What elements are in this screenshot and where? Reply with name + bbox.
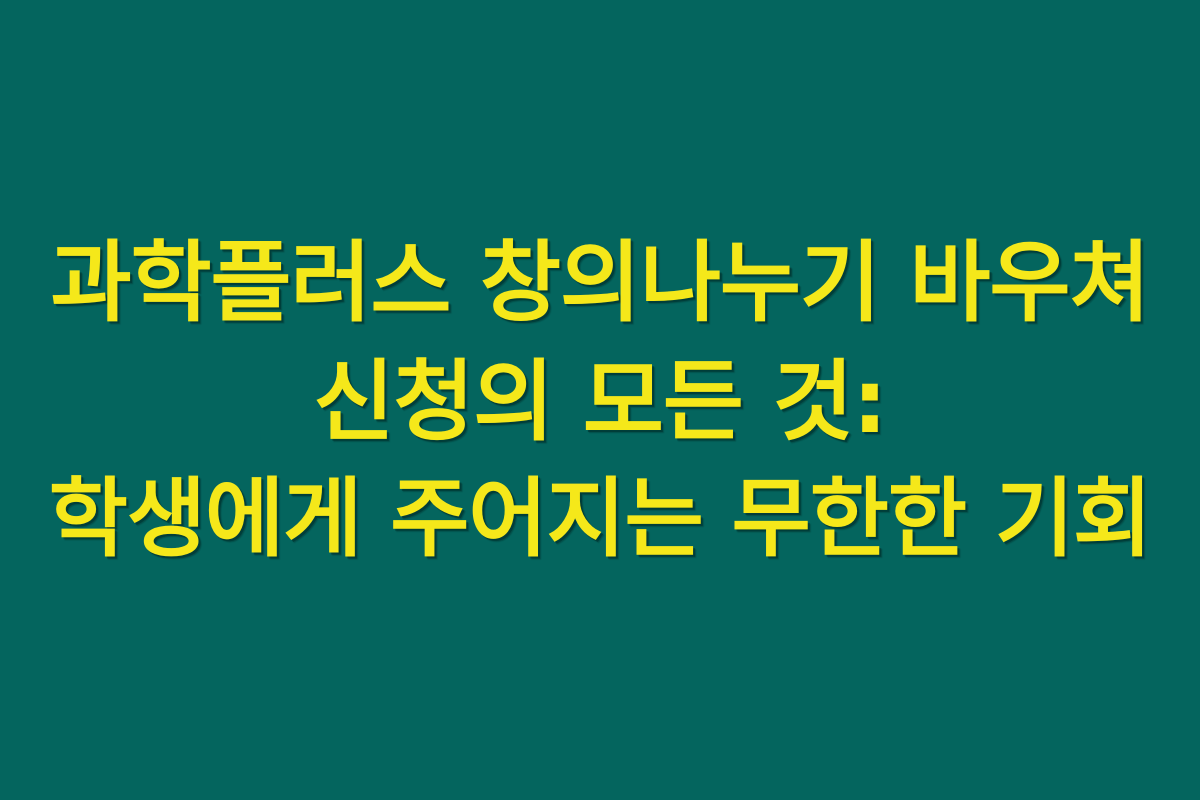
title-line-1: 과학플러스 창의나누기 바우쳐 (51, 223, 1150, 342)
title-line-3: 학생에게 주어지는 무한한 기회 (49, 461, 1151, 577)
title-line-2: 신청의 모든 것: (313, 342, 886, 461)
page-title: 과학플러스 창의나누기 바우쳐 신청의 모든 것: 학생에게 주어지는 무한한 … (10, 223, 1190, 577)
title-card: 과학플러스 창의나누기 바우쳐 신청의 모든 것: 학생에게 주어지는 무한한 … (0, 0, 1200, 800)
